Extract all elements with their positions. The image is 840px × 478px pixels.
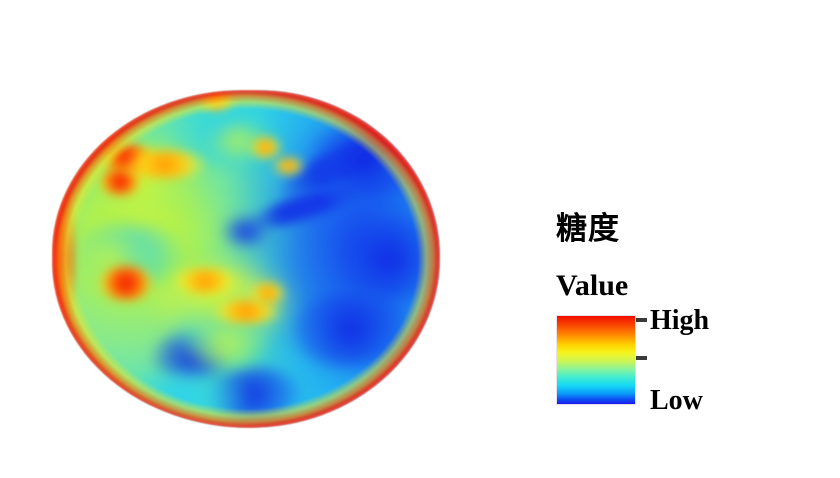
colorbar-tick-mid bbox=[636, 356, 647, 360]
legend-title: 糖度 bbox=[556, 214, 620, 245]
legend: 糖度 Value High Low bbox=[556, 214, 806, 424]
colorbar bbox=[557, 316, 635, 404]
cold-blob-upper-right bbox=[308, 124, 424, 198]
hotspot-upper-mid bbox=[250, 137, 281, 157]
fruit-sample-area bbox=[52, 90, 440, 428]
hotspot-center-left bbox=[99, 266, 153, 300]
hotspot-center-a bbox=[172, 269, 238, 293]
cold-blob-right-mid bbox=[339, 218, 440, 299]
warm-rim-left-edge bbox=[52, 164, 99, 353]
colorbar-label-low: Low bbox=[650, 387, 703, 415]
cold-blob-right-low bbox=[293, 293, 409, 367]
cool-blob-bottom bbox=[114, 374, 246, 421]
lime-blob-lower-center bbox=[184, 320, 269, 367]
colorbar-label-high: High bbox=[650, 307, 709, 335]
chemical-distribution-map bbox=[52, 90, 440, 428]
hotspot-upper-left-edge bbox=[87, 124, 118, 144]
hotspot-upper-left-streak bbox=[122, 151, 207, 178]
legend-subtitle: Value bbox=[556, 271, 628, 301]
hotspot-center-b bbox=[211, 300, 281, 324]
hotspot-center-right bbox=[250, 283, 285, 303]
figure-root: 糖度 Value High Low bbox=[0, 0, 840, 478]
colorbar-tick-high bbox=[636, 318, 647, 322]
